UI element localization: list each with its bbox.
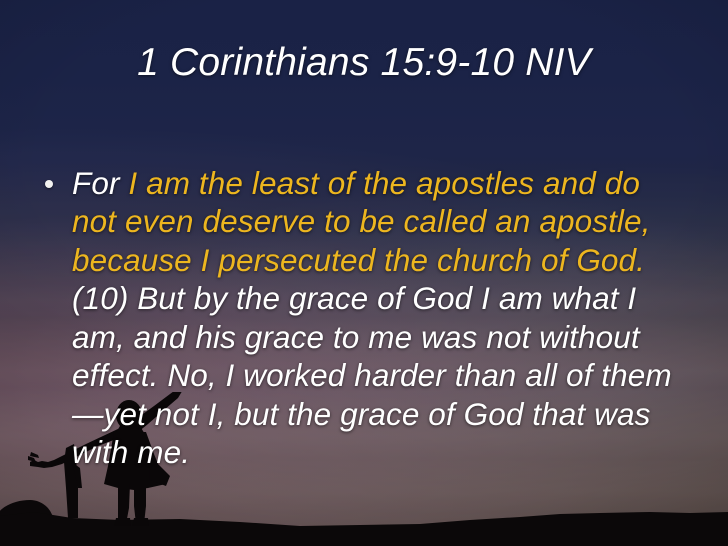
- presentation-slide: 1 Corinthians 15:9-10 NIV For I am the l…: [0, 0, 728, 546]
- ground-mound-left: [0, 500, 54, 524]
- slide-body: For I am the least of the apostles and d…: [40, 132, 688, 503]
- slide-title: 1 Corinthians 15:9-10 NIV: [0, 40, 728, 86]
- ground-horizon: [0, 500, 728, 546]
- verse-trailing-text: (10) But by the grace of God I am what I…: [72, 280, 672, 470]
- bullet-list-item: For I am the least of the apostles and d…: [40, 164, 688, 472]
- verse-text: For I am the least of the apostles and d…: [72, 164, 688, 472]
- verse-highlighted-text: I am the least of the apostles and do no…: [72, 165, 651, 278]
- verse-lead-text: For: [72, 165, 128, 201]
- bullet-point-icon: [45, 180, 53, 188]
